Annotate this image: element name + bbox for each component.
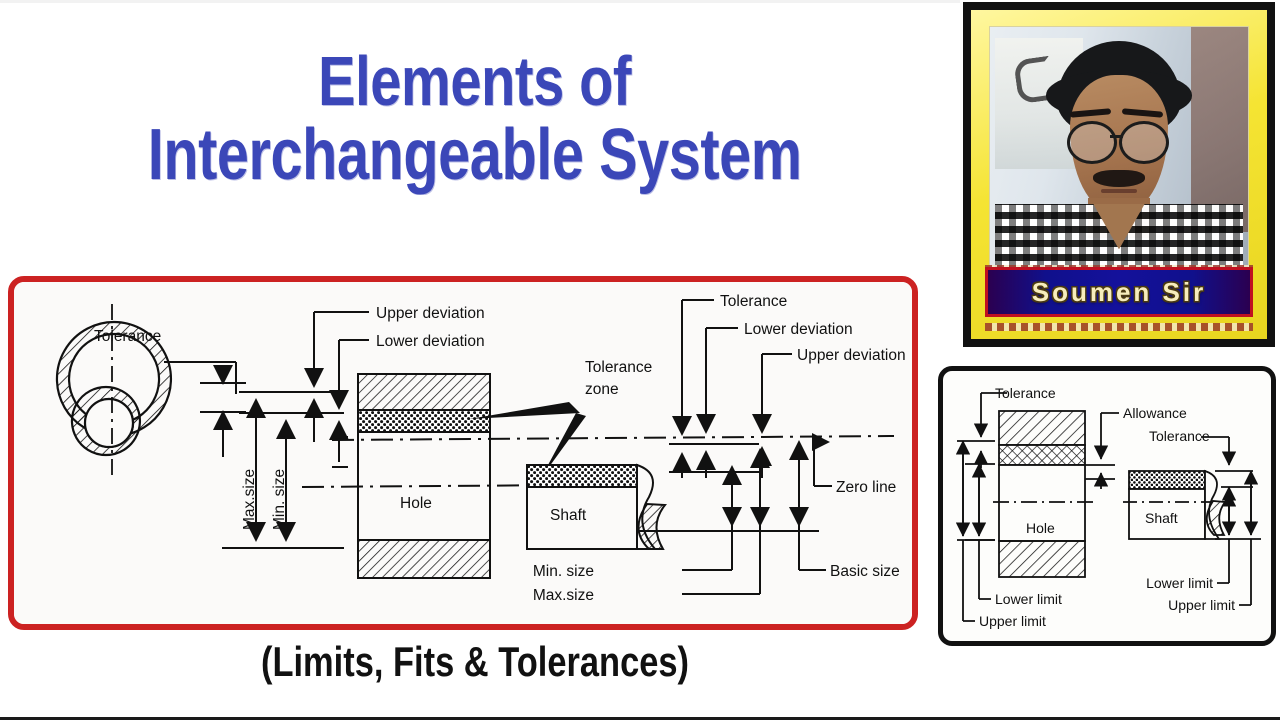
label-sec-tolerance-shaft: Tolerance xyxy=(1149,428,1210,444)
label-min-size-bottom: Min. size xyxy=(533,563,594,580)
label-upper-deviation-left: Upper deviation xyxy=(376,305,485,322)
right-dimension-stack xyxy=(639,300,832,594)
subtitle-caption: (Limits, Fits & Tolerances) xyxy=(86,638,865,686)
label-sec-shaft-upper-limit: Upper limit xyxy=(1168,597,1235,613)
photo-yellow-frame: Soumen Sir xyxy=(971,10,1267,339)
label-lower-deviation-left: Lower deviation xyxy=(376,333,485,350)
top-edge-strip xyxy=(0,0,960,3)
glasses-icon xyxy=(1067,121,1117,164)
label-zero-line: Zero line xyxy=(836,479,896,496)
secondary-limits-diagram: Tolerance Allowance Tolerance Hole Shaft… xyxy=(938,366,1276,646)
label-sec-hole-upper-limit: Upper limit xyxy=(979,613,1046,629)
tolerance-left-dim xyxy=(164,362,246,457)
presenter-nameplate: Soumen Sir xyxy=(985,267,1253,317)
label-upper-deviation-right: Upper deviation xyxy=(797,347,906,364)
label-shaft: Shaft xyxy=(550,507,587,524)
secondary-diagram-svg: Tolerance Allowance Tolerance Hole Shaft… xyxy=(943,371,1271,641)
label-sec-hole-lower-limit: Lower limit xyxy=(995,591,1062,607)
title-line-1: Elements of xyxy=(318,45,631,118)
page-title: Elements of Interchangeable System xyxy=(0,14,950,224)
hole-block xyxy=(358,374,490,578)
label-tolerance-right: Tolerance xyxy=(720,293,787,310)
label-min-size-vertical: Min. size xyxy=(271,469,288,530)
label-tolerance-left: Tolerance xyxy=(94,328,161,345)
main-tolerance-diagram: Tolerance Upper deviation Lower deviatio… xyxy=(8,276,918,630)
film-strip-decoration xyxy=(985,323,1253,331)
label-max-size-vertical: Max.size xyxy=(241,469,258,530)
label-max-size-bottom: Max.size xyxy=(533,587,594,604)
label-sec-shaft-lower-limit: Lower limit xyxy=(1146,575,1213,591)
label-sec-tolerance-hole: Tolerance xyxy=(995,385,1056,401)
label-sec-hole: Hole xyxy=(1026,520,1055,536)
label-tolerance-zone-l1: Tolerance xyxy=(585,359,652,376)
label-basic-size: Basic size xyxy=(830,563,900,580)
glasses-icon xyxy=(1119,121,1169,164)
title-line-2: Interchangeable System xyxy=(148,118,802,193)
presenter-photo-card: Soumen Sir xyxy=(963,2,1275,347)
label-hole: Hole xyxy=(400,495,432,512)
label-sec-allowance: Allowance xyxy=(1123,405,1187,421)
presenter-name: Soumen Sir xyxy=(1032,277,1206,308)
main-diagram-svg: Tolerance Upper deviation Lower deviatio… xyxy=(14,282,912,624)
label-lower-deviation-right: Lower deviation xyxy=(744,321,853,338)
label-sec-shaft: Shaft xyxy=(1145,510,1178,526)
label-tolerance-zone-l2: zone xyxy=(585,381,619,398)
main-diagram-canvas: Tolerance Upper deviation Lower deviatio… xyxy=(14,282,912,624)
shaft-block xyxy=(527,465,665,549)
slide-canvas: Elements of Interchangeable System xyxy=(0,0,1280,720)
